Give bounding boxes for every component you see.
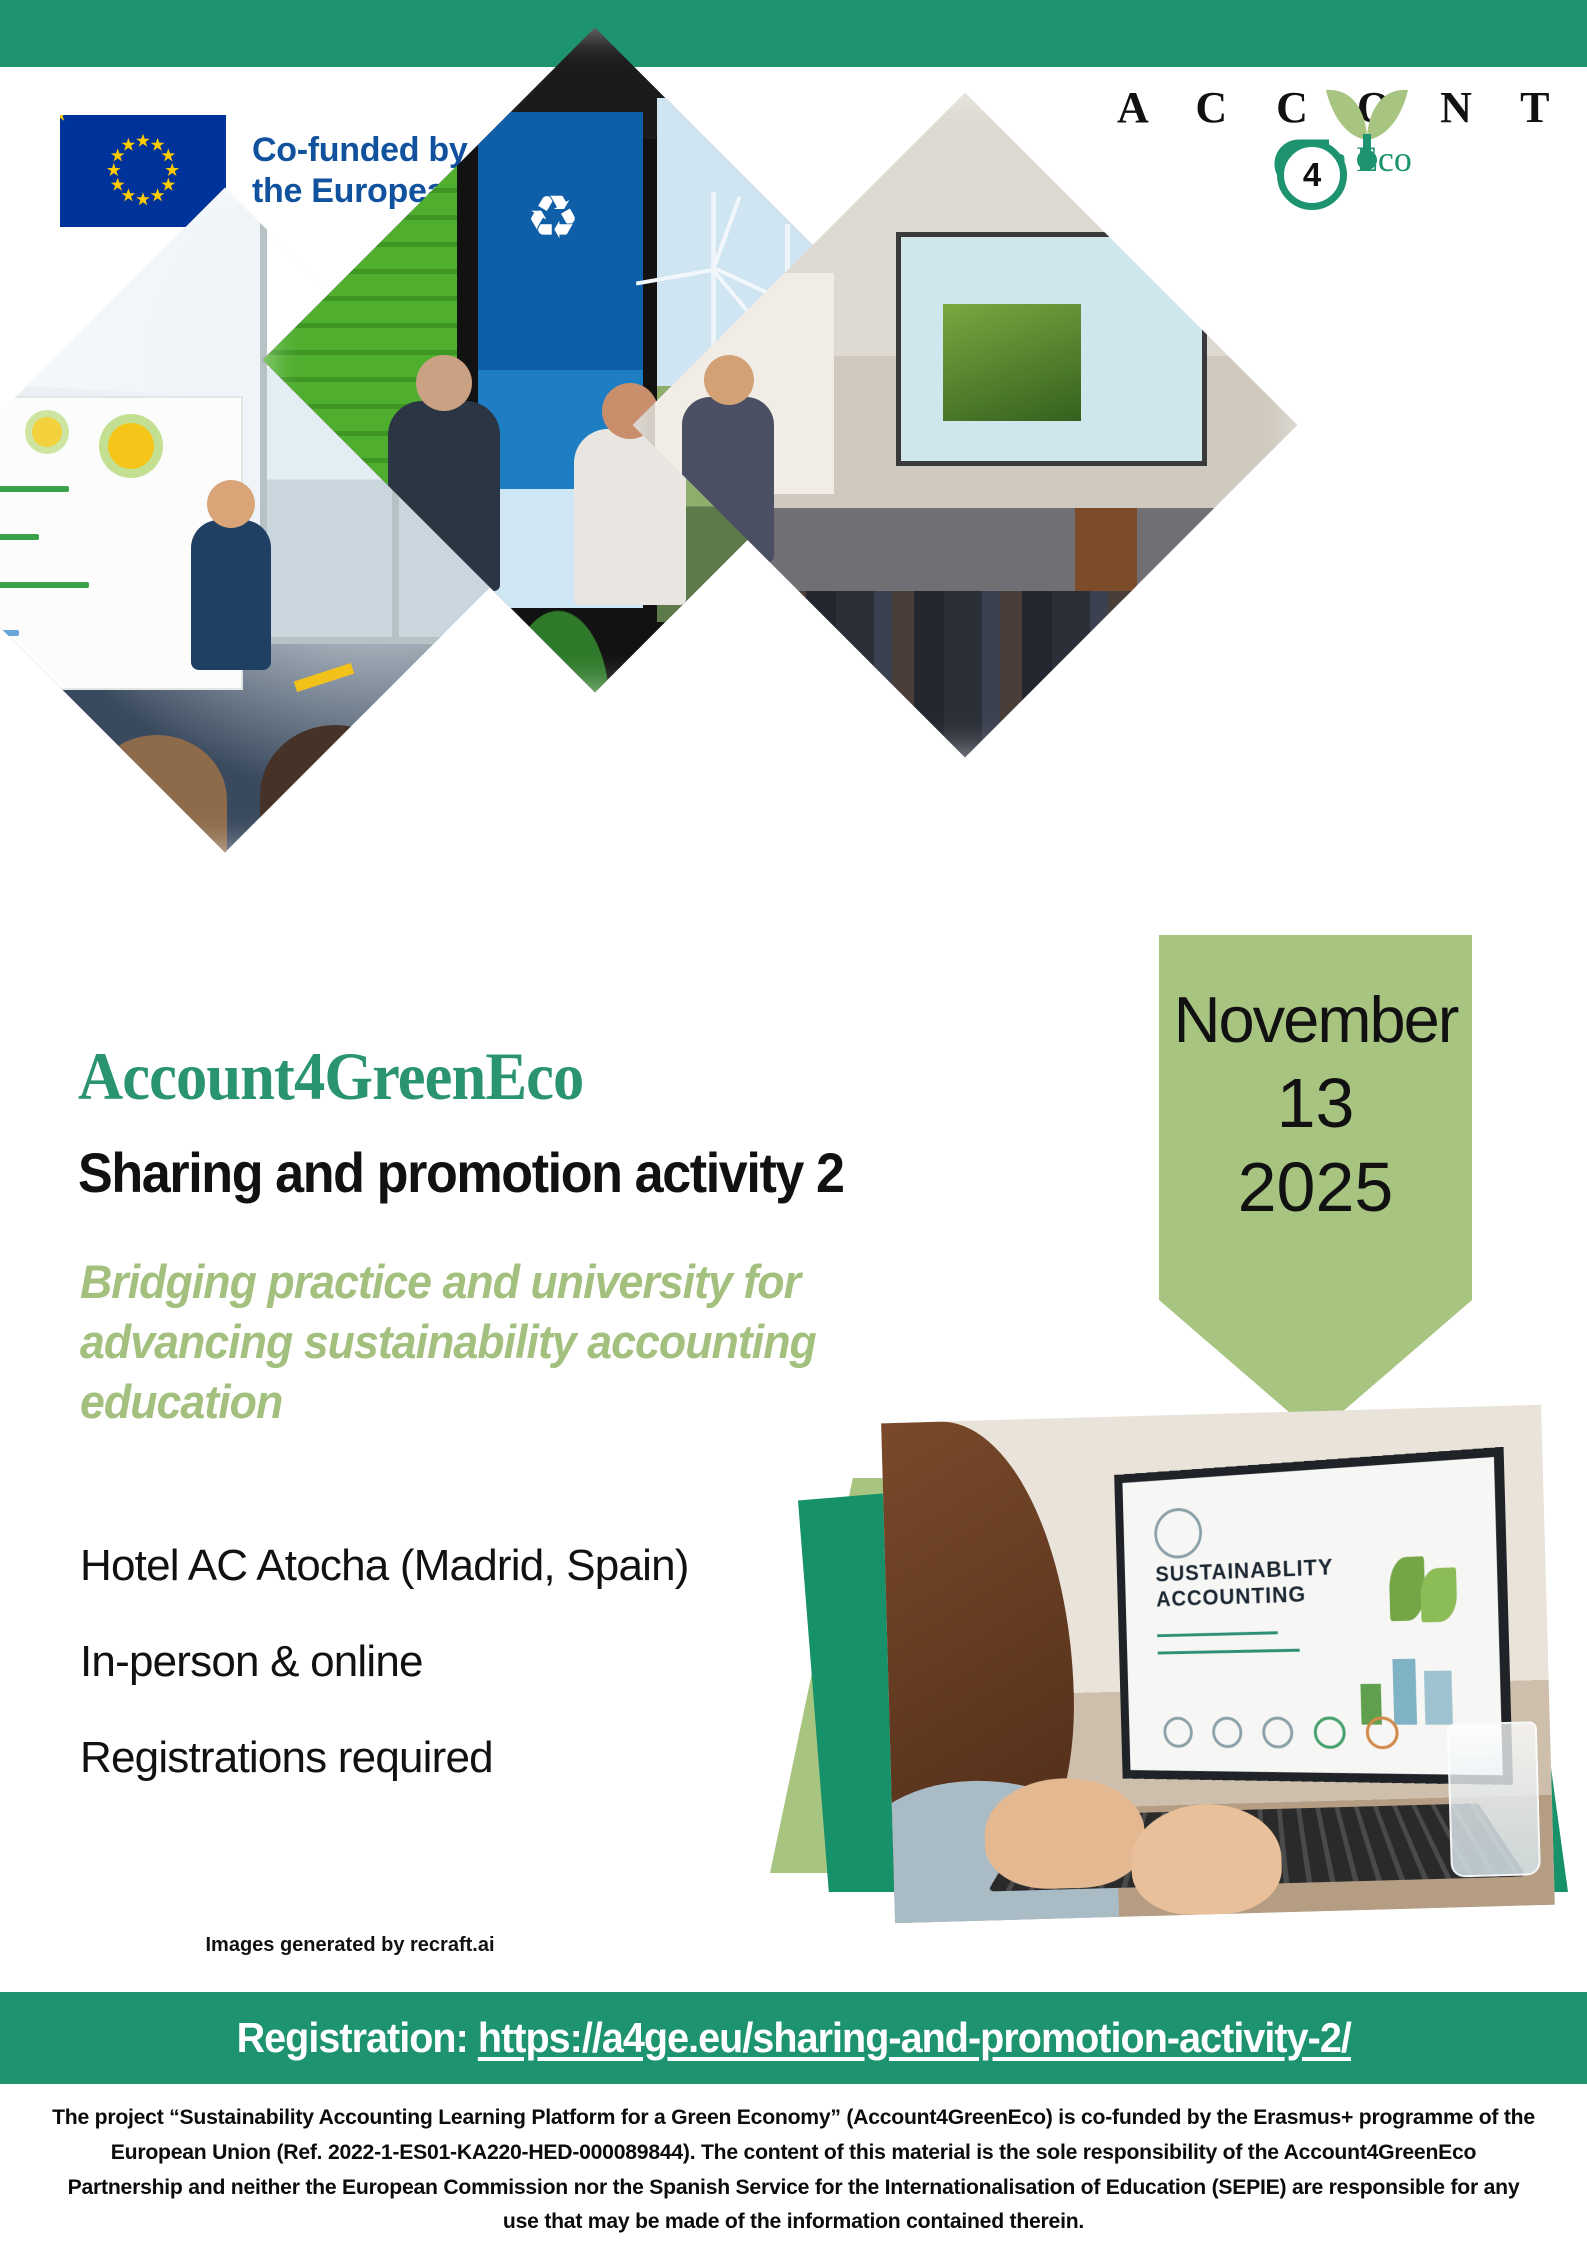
laptop-sustainability-accounting-photo: SUSTAINABLITY ACCOUNTING <box>881 1405 1555 1923</box>
date-year: 2025 <box>1159 1138 1472 1222</box>
page-title-activity: Sharing and promotion activity 2 <box>78 1140 844 1205</box>
funding-disclaimer: The project “Sustainability Accounting L… <box>51 2100 1535 2239</box>
page-title-project: Account4GreenEco <box>78 1037 583 1116</box>
hero-diamond-collage: ♻ <box>0 100 1587 760</box>
top-green-bar <box>0 0 1587 67</box>
event-detail-venue: Hotel AC Atocha (Madrid, Spain) <box>80 1540 700 1592</box>
registration-link[interactable]: https://a4ge.eu/sharing-and-promotion-ac… <box>478 2014 1351 2061</box>
registration-text: Registration: https://a4ge.eu/sharing-an… <box>236 2014 1350 2062</box>
event-detail-format: In-person & online <box>80 1636 700 1688</box>
registration-label: Registration: <box>236 2014 477 2061</box>
date-month: November <box>1159 935 1472 1052</box>
event-details-list: Hotel AC Atocha (Madrid, Spain) In-perso… <box>80 1540 700 1828</box>
date-day: 13 <box>1159 1052 1472 1138</box>
laptop-screen-title-1: SUSTAINABLITY <box>1155 1554 1334 1586</box>
date-badge: November 13 2025 <box>1159 935 1472 1435</box>
image-credit: Images generated by recraft.ai <box>0 1934 700 1957</box>
poster-canvas: Co-funded by the European Union A C C O … <box>0 0 1587 2245</box>
registration-band[interactable]: Registration: https://a4ge.eu/sharing-an… <box>0 1992 1587 2084</box>
laptop-screen-title-2: ACCOUNTING <box>1156 1581 1307 1611</box>
feature-image-block: SUSTAINABLITY ACCOUNTING <box>770 1390 1580 1990</box>
logo-badge-4: 4 <box>1277 140 1347 210</box>
event-detail-registration: Registrations required <box>80 1732 700 1784</box>
